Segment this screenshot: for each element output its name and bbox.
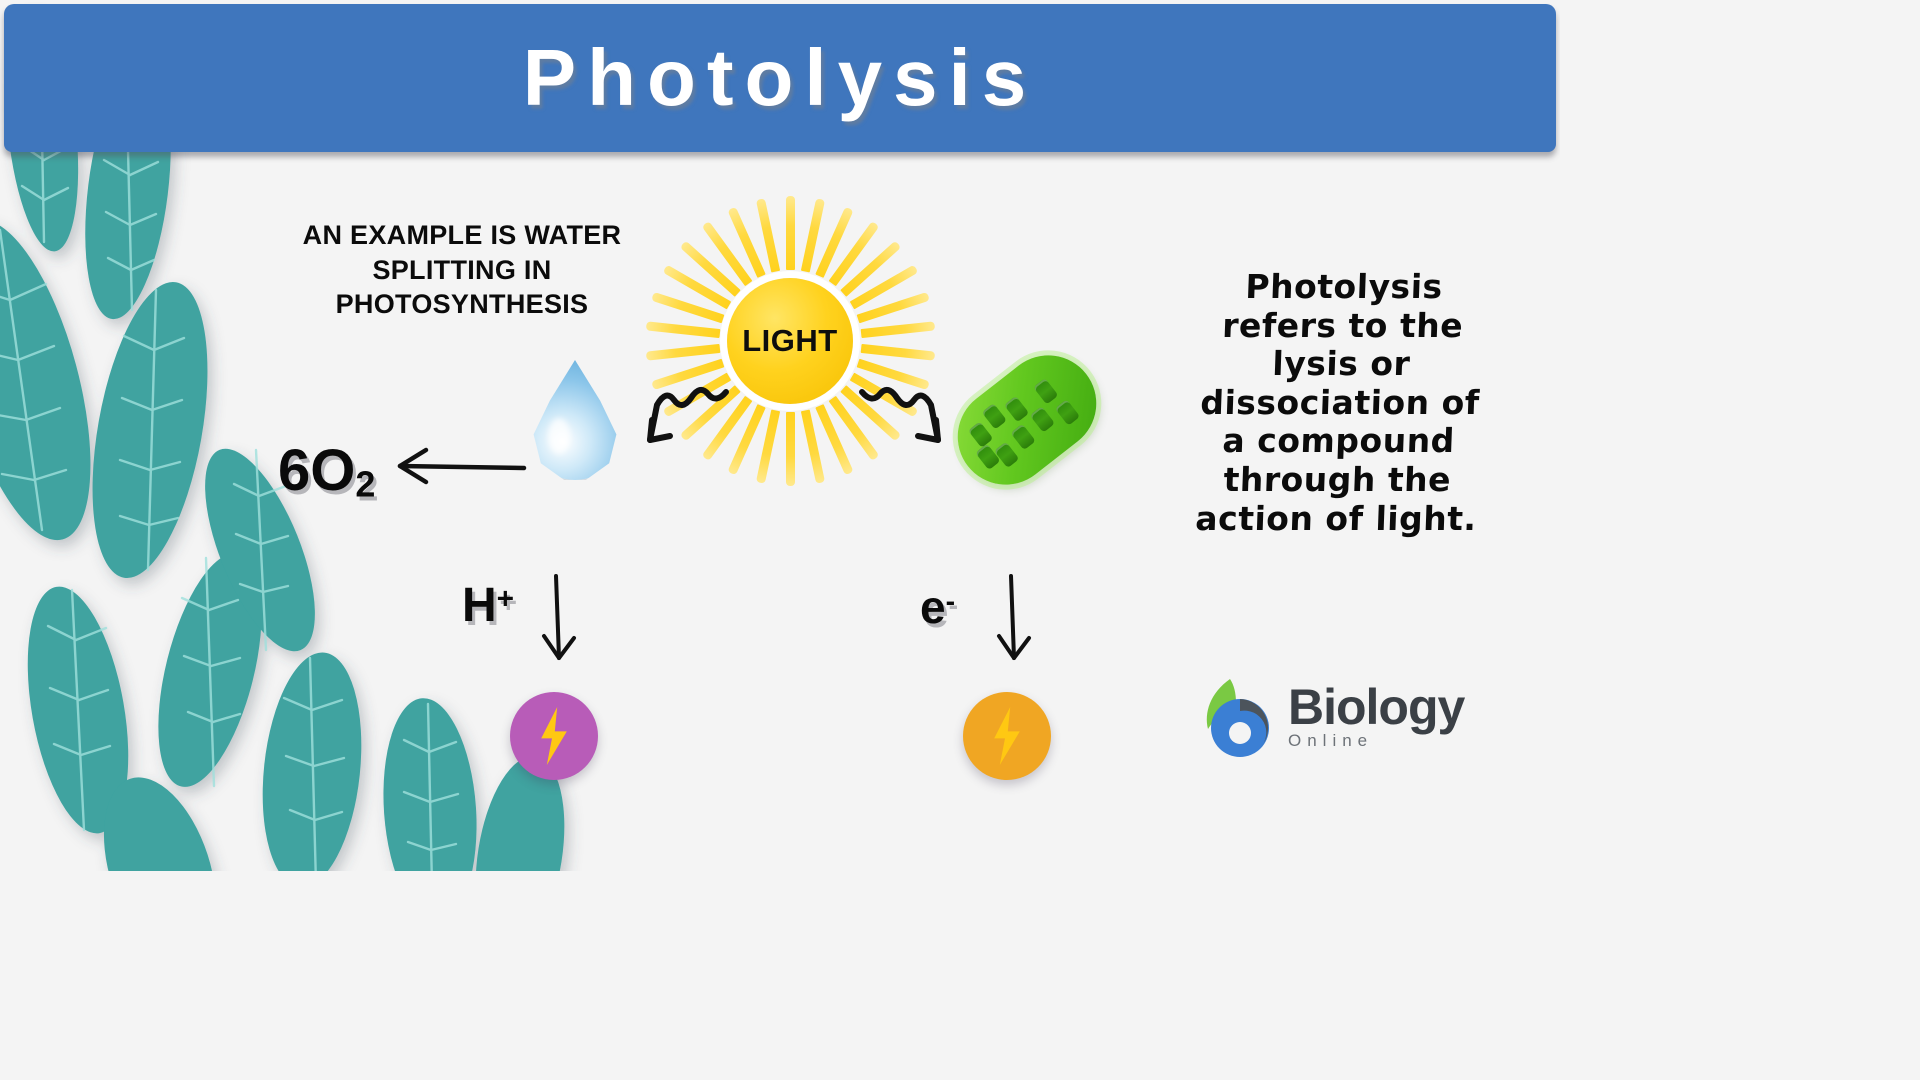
definition-line-2: refers to the (1182, 307, 1503, 346)
oxygen-arrow (392, 440, 532, 500)
electron-label: e- (920, 580, 955, 634)
definition-line-7: action of light. (1175, 500, 1496, 539)
oxygen-label: 6O2 (278, 437, 375, 505)
header-banner: Photolysis (4, 4, 1556, 152)
sun-light-label: LIGHT (742, 323, 838, 359)
energy-badge-electron (963, 692, 1051, 780)
brand-logo[interactable]: Biology Online (1200, 672, 1500, 762)
proton-superscript: + (497, 583, 514, 616)
oxygen-text: 6O (278, 438, 355, 503)
lightning-bolt-icon (987, 707, 1027, 765)
light-ray-arrows (630, 370, 960, 480)
electron-text: e (920, 581, 946, 633)
page-title: Photolysis (4, 4, 1556, 152)
oxygen-subscript: 2 (355, 463, 375, 504)
proton-arrow (530, 570, 590, 670)
definition-line-1: Photolysis (1183, 268, 1504, 307)
logo-name: Biology (1288, 684, 1464, 730)
energy-badge-proton (510, 692, 598, 780)
lightning-bolt-icon (534, 707, 574, 765)
electron-arrow (985, 570, 1045, 670)
definition-line-5: a compound (1178, 422, 1499, 461)
proton-text: H (462, 579, 497, 632)
proton-label: H+ (462, 578, 514, 633)
definition-line-3: lysis or (1181, 345, 1502, 384)
example-caption: AN EXAMPLE IS WATER SPLITTING IN PHOTOSY… (262, 218, 662, 322)
definition-text: Photolysis refers to the lysis or dissoc… (1175, 268, 1504, 538)
infographic-canvas: Photolysis AN EXAMPLE IS WATER SPLITTING… (0, 0, 1560, 871)
water-droplet-highlight (548, 418, 570, 454)
biology-online-logo-icon (1200, 677, 1276, 757)
electron-superscript: - (946, 586, 956, 618)
chloroplast-icon (938, 336, 1115, 504)
definition-line-6: through the (1177, 461, 1498, 500)
definition-line-4: dissociation of (1179, 384, 1500, 423)
